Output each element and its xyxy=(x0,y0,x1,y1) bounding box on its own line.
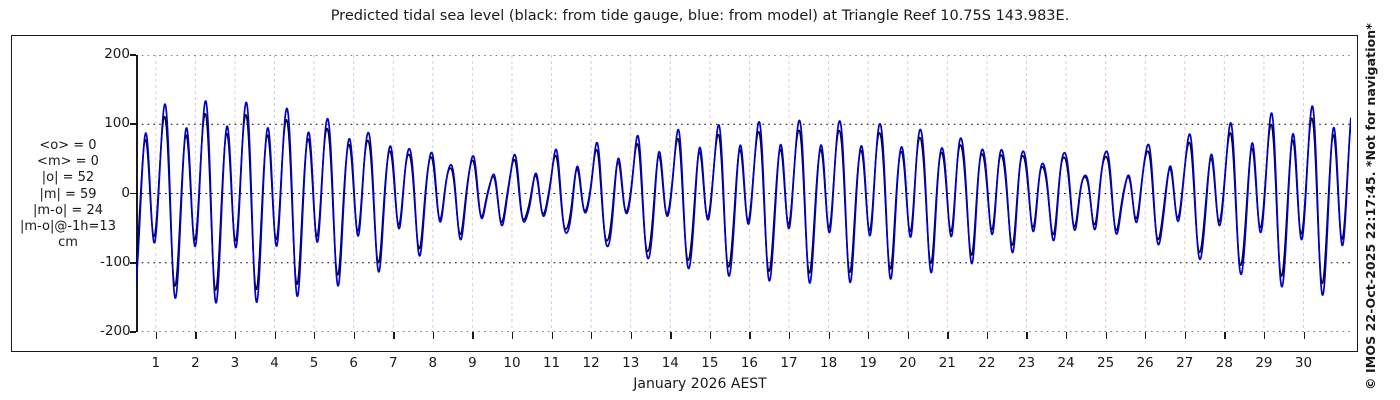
stat-rms-difference: |m-o| = 24 xyxy=(0,203,138,219)
series-line-tide-gauge xyxy=(136,114,1351,290)
stat-mean-observed: <o> = 0 xyxy=(0,138,138,154)
y-axis-tick xyxy=(130,54,136,56)
x-axis-tick-label: 1 xyxy=(141,355,171,371)
x-axis-tick-label: 29 xyxy=(1249,355,1279,371)
x-axis-tick xyxy=(947,332,948,339)
x-axis-tick xyxy=(512,332,513,339)
tide-series-plot xyxy=(136,55,1351,332)
x-axis-tick xyxy=(710,332,711,339)
x-axis-tick xyxy=(1145,332,1146,339)
y-axis-tick-label: 200 xyxy=(100,46,130,62)
x-axis-tick-label: 10 xyxy=(497,355,527,371)
y-axis-tick-label: 100 xyxy=(100,115,130,131)
x-axis-tick xyxy=(354,332,355,339)
x-axis-tick xyxy=(829,332,830,339)
x-axis-tick-label: 2 xyxy=(180,355,210,371)
x-axis-tick xyxy=(591,332,592,339)
x-axis-tick-label: 7 xyxy=(378,355,408,371)
x-axis-tick xyxy=(1026,332,1027,339)
x-axis-tick xyxy=(987,332,988,339)
x-axis-tick xyxy=(156,332,157,339)
x-axis-tick-label: 19 xyxy=(853,355,883,371)
x-axis-tick-label: 27 xyxy=(1170,355,1200,371)
stat-mean-model: <m> = 0 xyxy=(0,154,138,170)
plot-area xyxy=(136,55,1351,332)
x-axis-tick-label: 13 xyxy=(616,355,646,371)
copyright-notice: © IMOS 22-Oct-2025 22:17:45. *Not for na… xyxy=(1363,0,1383,390)
y-axis-tick-label: 0 xyxy=(100,185,130,201)
tidal-chart-figure: Predicted tidal sea level (black: from t… xyxy=(0,0,1400,400)
x-axis-tick xyxy=(868,332,869,339)
stat-rms-difference-lagged: |m-o|@-1h=13 xyxy=(0,219,138,235)
x-axis-tick xyxy=(393,332,394,339)
x-axis-tick xyxy=(1264,332,1265,339)
y-axis-tick xyxy=(130,193,136,195)
x-axis-tick-label: 26 xyxy=(1130,355,1160,371)
horizontal-gridlines xyxy=(136,55,1351,332)
x-axis-tick-label: 8 xyxy=(418,355,448,371)
series-line-model xyxy=(136,101,1351,303)
x-axis-tick xyxy=(235,332,236,339)
x-axis-tick-label: 3 xyxy=(220,355,250,371)
x-axis-tick-label: 18 xyxy=(814,355,844,371)
x-axis-tick-label: 24 xyxy=(1051,355,1081,371)
x-axis-tick xyxy=(1106,332,1107,339)
x-axis-tick-label: 16 xyxy=(734,355,764,371)
x-axis-tick xyxy=(472,332,473,339)
x-axis-tick-label: 5 xyxy=(299,355,329,371)
x-axis-tick xyxy=(1304,332,1305,339)
x-axis-tick-label: 23 xyxy=(1011,355,1041,371)
x-axis-tick-label: 14 xyxy=(655,355,685,371)
y-axis-tick xyxy=(130,331,136,333)
x-axis-tick xyxy=(195,332,196,339)
x-axis-tick xyxy=(789,332,790,339)
x-axis-tick-label: 4 xyxy=(260,355,290,371)
x-axis-tick-label: 11 xyxy=(537,355,567,371)
x-axis-tick xyxy=(749,332,750,339)
x-axis-tick xyxy=(314,332,315,339)
x-axis-tick-label: 25 xyxy=(1091,355,1121,371)
x-axis-tick xyxy=(631,332,632,339)
y-axis-tick-label: -100 xyxy=(100,254,130,270)
x-axis-label: January 2026 AEST xyxy=(0,376,1400,392)
x-axis-tick-label: 21 xyxy=(932,355,962,371)
x-axis-tick xyxy=(1066,332,1067,339)
x-axis-tick-label: 9 xyxy=(457,355,487,371)
x-axis-tick-label: 30 xyxy=(1289,355,1319,371)
stat-units: cm xyxy=(0,235,138,251)
page-title: Predicted tidal sea level (black: from t… xyxy=(0,8,1400,24)
y-axis-tick xyxy=(130,123,136,125)
x-axis-tick-label: 6 xyxy=(339,355,369,371)
x-axis-tick-label: 17 xyxy=(774,355,804,371)
y-axis-tick-label: -200 xyxy=(100,323,130,339)
x-axis-tick-label: 28 xyxy=(1209,355,1239,371)
x-axis-tick xyxy=(433,332,434,339)
x-axis-tick xyxy=(670,332,671,339)
x-axis-tick-label: 15 xyxy=(695,355,725,371)
x-axis-tick-label: 20 xyxy=(893,355,923,371)
x-axis-tick xyxy=(1185,332,1186,339)
x-axis-tick-label: 22 xyxy=(972,355,1002,371)
x-axis-tick xyxy=(552,332,553,339)
x-axis-tick xyxy=(1224,332,1225,339)
y-axis-tick xyxy=(130,262,136,264)
x-axis-tick-label: 12 xyxy=(576,355,606,371)
x-axis-tick xyxy=(275,332,276,339)
x-axis-tick xyxy=(908,332,909,339)
